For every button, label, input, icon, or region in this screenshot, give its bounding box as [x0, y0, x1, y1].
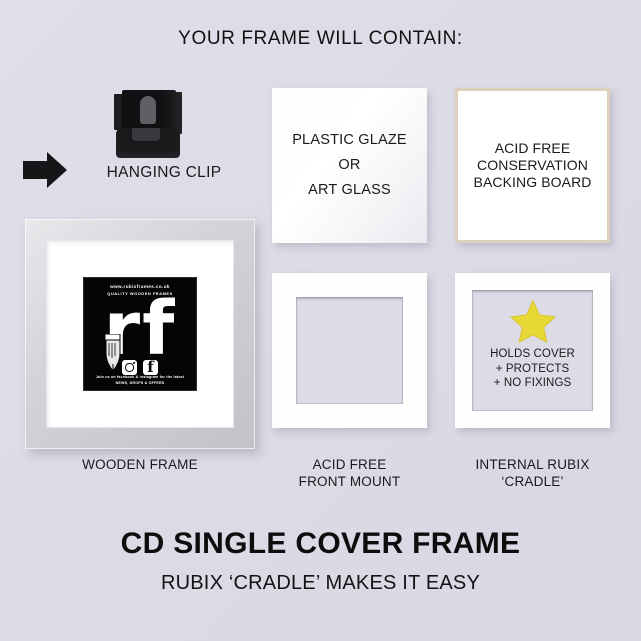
infographic-canvas: YOUR FRAME WILL CONTAIN: HANGING CLIP PL…	[0, 0, 641, 641]
cradle-caption-line-1: INTERNAL RUBIX	[455, 456, 610, 473]
footer-title: CD SINGLE COVER FRAME	[0, 527, 641, 561]
social-icons	[84, 360, 196, 375]
clip-notch	[140, 96, 156, 124]
page-title: YOUR FRAME WILL CONTAIN:	[0, 28, 641, 50]
cradle-benefit-2: + PROTECTS	[490, 362, 575, 377]
star-icon	[510, 299, 556, 343]
frame-mount-board: www.rubixframes.co.uk QUALITY WOODEN FRA…	[46, 240, 234, 428]
backing-board-panel: ACID FREE CONSERVATION BACKING BOARD	[455, 88, 610, 243]
glaze-panel: PLASTIC GLAZE OR ART GLASS	[272, 88, 427, 243]
glaze-line-1: PLASTIC GLAZE	[292, 128, 407, 153]
cradle-benefits: HOLDS COVER + PROTECTS + NO FIXINGS	[490, 347, 575, 391]
glaze-line-2: OR	[292, 153, 407, 178]
cradle-panel: HOLDS COVER + PROTECTS + NO FIXINGS	[455, 273, 610, 428]
facebook-icon	[143, 360, 158, 375]
hanging-clip-photo	[106, 86, 194, 164]
cover-footer-line-2: NEWS, DROPS & OFFERS	[84, 381, 196, 385]
arrow-right-icon	[21, 150, 69, 190]
backing-line-3: BACKING BOARD	[474, 174, 592, 191]
front-mount-caption-line-2: FRONT MOUNT	[272, 473, 427, 490]
front-mount-caption-line-1: ACID FREE	[272, 456, 427, 473]
cradle-caption-line-2: ‘CRADLE’	[455, 473, 610, 490]
backing-line-1: ACID FREE	[474, 140, 592, 157]
backing-line-2: CONSERVATION	[474, 157, 592, 174]
cd-cover-artwork: www.rubixframes.co.uk QUALITY WOODEN FRA…	[84, 278, 196, 390]
hanging-clip-block: HANGING CLIP	[14, 86, 254, 204]
backing-board-text: ACID FREE CONSERVATION BACKING BOARD	[474, 140, 592, 191]
front-mount-caption: ACID FREE FRONT MOUNT	[272, 456, 427, 490]
cradle-benefit-3: + NO FIXINGS	[490, 376, 575, 391]
clip-jaw-gap	[132, 128, 160, 141]
instagram-icon	[122, 360, 137, 375]
wooden-frame-caption: WOODEN FRAME	[25, 456, 255, 473]
wooden-frame-panel: www.rubixframes.co.uk QUALITY WOODEN FRA…	[25, 219, 255, 449]
hanging-clip-label: HANGING CLIP	[74, 164, 254, 182]
cradle-caption: INTERNAL RUBIX ‘CRADLE’	[455, 456, 610, 490]
glaze-text: PLASTIC GLAZE OR ART GLASS	[292, 128, 407, 203]
cradle-aperture: HOLDS COVER + PROTECTS + NO FIXINGS	[472, 290, 593, 411]
glaze-line-3: ART GLASS	[292, 178, 407, 203]
cradle-benefit-1: HOLDS COVER	[490, 347, 575, 362]
footer-subtitle: RUBIX ‘CRADLE’ MAKES IT EASY	[0, 572, 641, 595]
mount-aperture	[296, 297, 403, 404]
cover-footer-line-1: Join us on facebook & instagram for the …	[84, 375, 196, 379]
front-mount-panel	[272, 273, 427, 428]
